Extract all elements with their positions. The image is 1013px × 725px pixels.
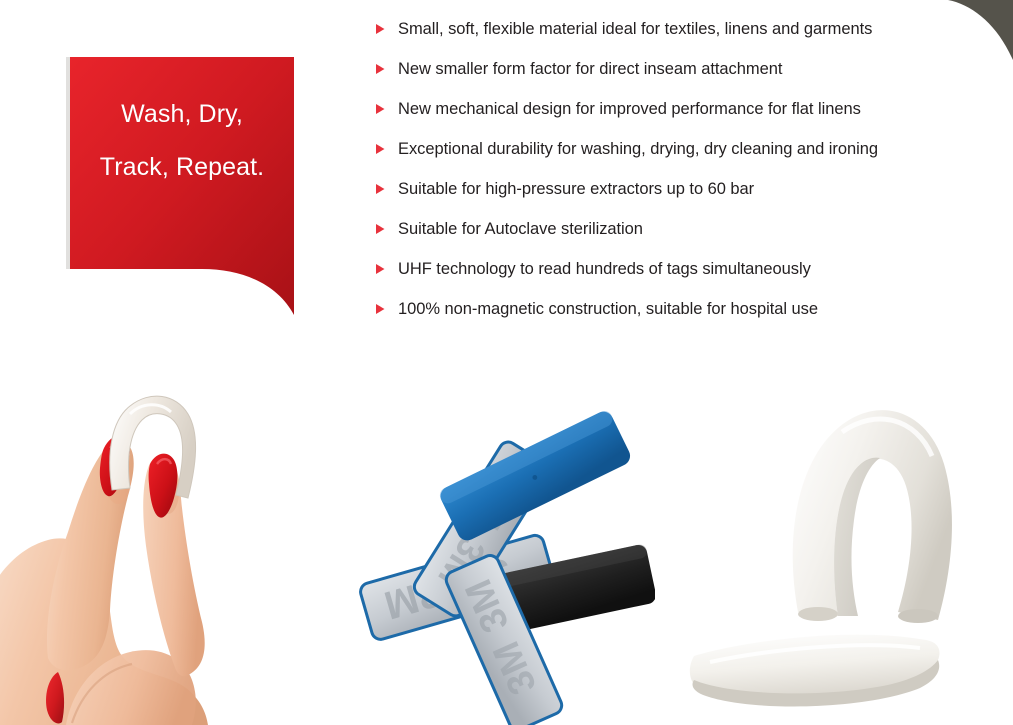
bullet-label: Small, soft, flexible material ideal for… [398,16,976,39]
product-photo-band: 3M 3M 3M 3M [0,340,1013,725]
bullet-label: Suitable for Autoclave sterilization [398,216,976,239]
list-item: UHF technology to read hundreds of tags … [376,256,976,296]
list-item: 100% non-magnetic construction, suitable… [376,296,976,336]
bullet-label: 100% non-magnetic construction, suitable… [398,296,976,319]
list-item: Small, soft, flexible material ideal for… [376,16,976,56]
bullet-label: Exceptional durability for washing, dryi… [398,136,976,159]
callout-banner: Wash, Dry, Track, Repeat. [66,57,298,319]
triangle-right-icon [376,176,398,194]
callout-text-block: Wash, Dry, Track, Repeat. [66,101,298,181]
callout-line-2: Track, Repeat. [66,154,298,180]
list-item: New smaller form factor for direct insea… [376,56,976,96]
triangle-right-icon [376,56,398,74]
callout-line-1: Wash, Dry, [66,101,298,127]
list-item: New mechanical design for improved perfo… [376,96,976,136]
feature-bullet-list: Small, soft, flexible material ideal for… [376,16,976,336]
triangle-right-icon [376,96,398,114]
list-item: Suitable for Autoclave sterilization [376,216,976,256]
triangle-right-icon [376,216,398,234]
triangle-right-icon [376,256,398,274]
list-item: Suitable for high-pressure extractors up… [376,176,976,216]
bullet-label: New mechanical design for improved perfo… [398,96,976,119]
list-item: Exceptional durability for washing, dryi… [376,136,976,176]
bullet-label: UHF technology to read hundreds of tags … [398,256,976,279]
triangle-right-icon [376,296,398,314]
adhesive-tags-pile-photo: 3M 3M 3M 3M [345,340,655,725]
slide-canvas: Wash, Dry, Track, Repeat. Small, soft, f… [0,0,1013,725]
bullet-label: New smaller form factor for direct insea… [398,56,976,79]
bullet-label: Suitable for high-pressure extractors up… [398,176,976,199]
triangle-right-icon [376,16,398,34]
hand-holding-loop-tag-photo [0,340,350,725]
white-tags-photo [680,340,980,725]
callout-shape [66,57,298,319]
triangle-right-icon [376,136,398,154]
